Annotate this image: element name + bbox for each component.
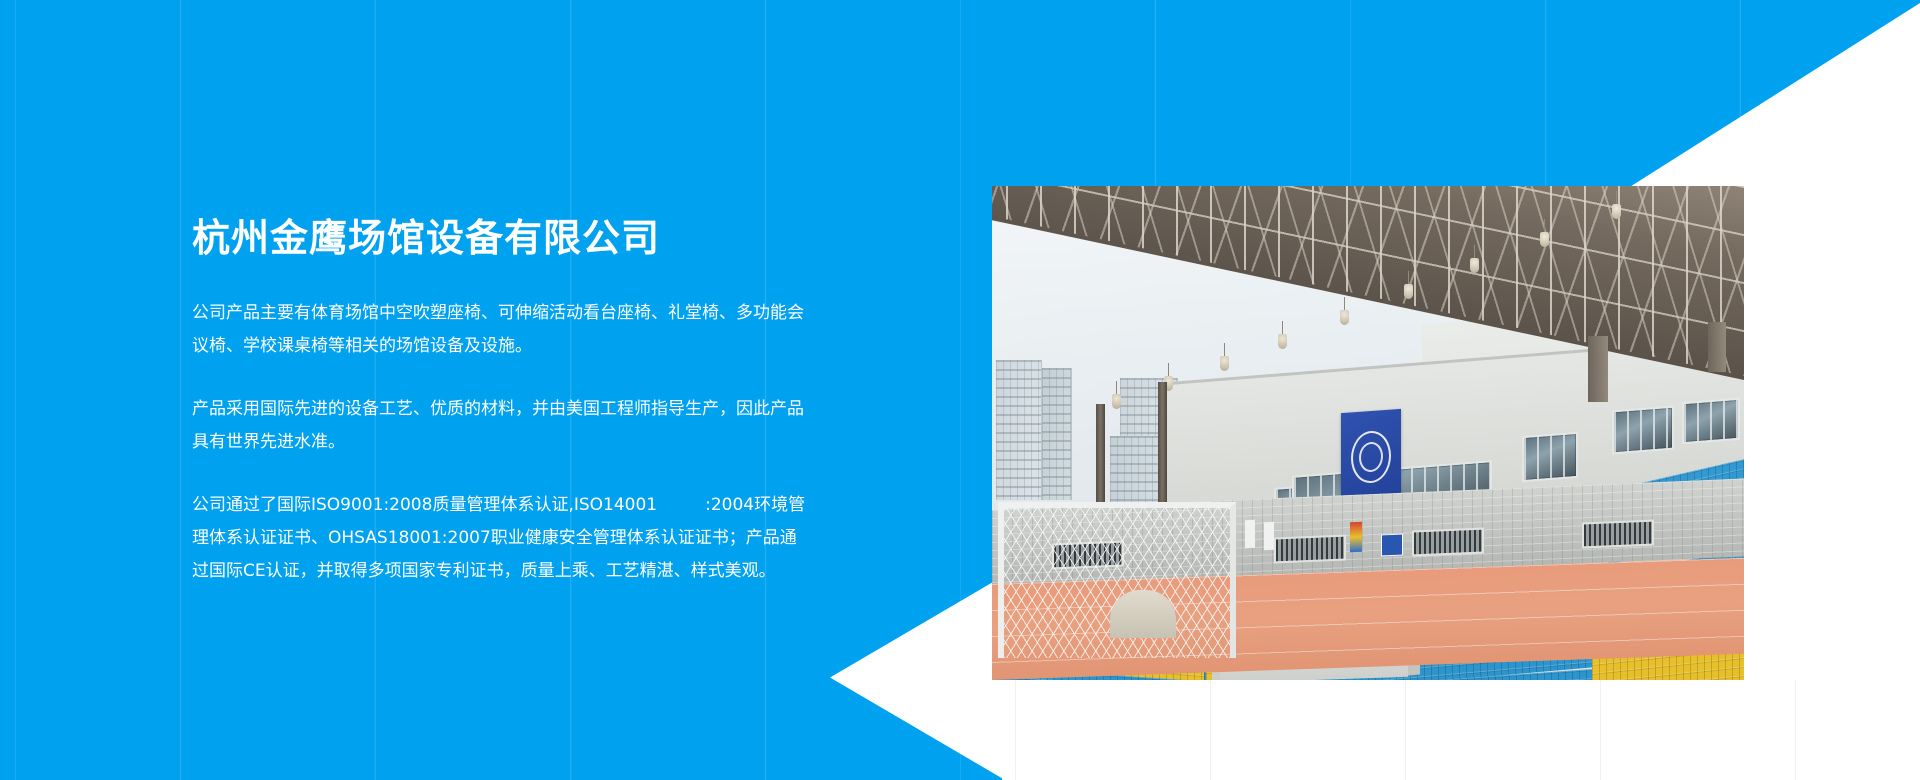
roof-support-column — [1158, 382, 1167, 502]
roof-support-column — [1588, 336, 1608, 402]
hero-text-column: 杭州金鹰场馆设备有限公司 公司产品主要有体育场馆中空吹塑座椅、可伸缩活动看台座椅… — [192, 215, 832, 588]
building-window — [1682, 398, 1740, 445]
roof-lamp-icon — [1278, 334, 1287, 349]
roof-lamp-icon — [1470, 258, 1479, 273]
building-windows — [996, 360, 1041, 500]
page-title: 杭州金鹰场馆设备有限公司 — [192, 215, 832, 263]
stadium-photo — [992, 186, 1744, 680]
wall-vent — [1412, 527, 1484, 556]
wall-vent — [1582, 519, 1654, 548]
window-mullions — [1524, 434, 1576, 480]
wall-sign — [1264, 522, 1274, 550]
roof-lamp-icon — [1540, 232, 1549, 247]
cert-text-part1: 公司通过了国际ISO9001:2008质量管理体系认证,ISO14001 — [192, 495, 657, 515]
company-hero-banner: 杭州金鹰场馆设备有限公司 公司产品主要有体育场馆中空吹塑座椅、可伸缩活动看台座椅… — [0, 0, 1920, 780]
window-mullions — [1684, 400, 1738, 442]
roof-lamp-icon — [1220, 356, 1229, 371]
wall-vent — [1274, 534, 1346, 563]
roof-lamp-icon — [1612, 204, 1621, 219]
window-mullions — [1614, 408, 1672, 453]
intro-paragraph-quality: 产品采用国际先进的设备工艺、优质的材料，并由美国工程师指导生产，因此产品具有世界… — [192, 393, 812, 459]
wall-blue-sign — [1381, 534, 1403, 557]
intro-paragraph-products: 公司产品主要有体育场馆中空吹塑座椅、可伸缩活动看台座椅、礼堂椅、多功能会议椅、学… — [192, 297, 812, 363]
building-window — [1612, 406, 1674, 455]
distant-building-1 — [996, 360, 1042, 500]
university-seal-icon — [1351, 430, 1391, 485]
roof-lamp-icon — [1112, 394, 1121, 409]
building-windows — [1042, 368, 1071, 500]
university-banner — [1341, 409, 1401, 505]
roof-support-column — [1708, 322, 1726, 372]
building-window — [1522, 432, 1578, 482]
roof-lamp-icon — [1404, 284, 1413, 299]
soccer-goal — [998, 502, 1236, 658]
wall-sign — [1245, 520, 1255, 548]
field-equipment-cover — [1110, 590, 1176, 638]
roof-lamp-icon — [1340, 310, 1349, 325]
distant-building-2 — [1042, 368, 1072, 500]
intro-paragraph-certifications: 公司通过了国际ISO9001:2008质量管理体系认证,ISO14001:200… — [192, 489, 812, 588]
wall-poster — [1350, 522, 1362, 553]
